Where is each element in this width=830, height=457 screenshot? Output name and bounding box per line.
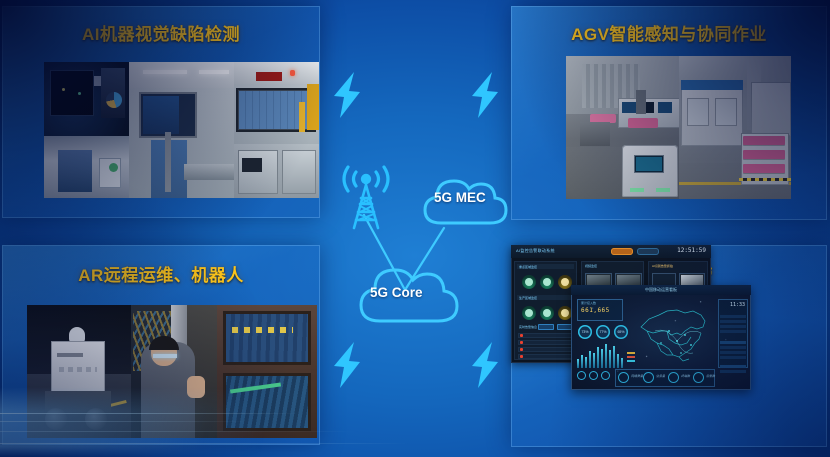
panel-title-ai-vision: AI机器视觉缺陷检测 [2,20,320,45]
panel-ar-robot[interactable]: AR远程运维、机器人 [2,245,320,445]
panel-ai-vision[interactable]: AI机器视觉缺陷检测 [2,6,320,218]
cloud-label-5g-core: 5G Core [370,285,423,300]
capture-section-label: AI识别告警抓拍 [652,264,673,268]
network-diagram: 5G MEC 5G Core [322,0,512,457]
dashboard-gauges-column: 重点区域监控 生产区域监控 实时告警信息 [514,261,577,360]
5g-tower-icon [336,158,396,230]
photo-tile-agv-aisle [679,56,792,199]
ops-footer-metrics: 网络质量 业务量 终端数 告警数 [615,369,715,387]
footer-item-label: 终端数 [681,374,690,378]
photo-agv [566,56,791,199]
ops-clock: 11:33 [730,302,745,308]
work-order-button[interactable] [637,248,659,255]
video-section-label: 视频监控 [585,264,597,268]
lightning-bolt-icon [470,72,500,118]
alarm-table-header: 实时告警信息 [519,325,537,329]
panel-title-ar-robot: AR远程运维、机器人 [2,261,320,286]
lightning-bolt-icon [332,342,362,388]
ring-value-2: 77% [596,325,610,339]
panel-ai-operations[interactable]: AI智慧运营 AI监控告警联动系统 12:51:59 重点区域监控 生 [511,245,827,447]
lightning-bolt-icon [470,342,500,388]
dashboard-operations: 中国移动运营看板 累计接入数 661,665 73% 77% 65% [571,285,751,390]
footer-item-label: 网络质量 [631,374,643,378]
photo-tile-line-monitor [129,62,234,198]
photo-tile-engineer-ar [131,305,217,438]
kpi-label: 累计接入数 [581,301,596,305]
gauge-group-label-2: 生产区域监控 [519,296,537,300]
photo-tile-factory-equipment [234,62,319,198]
kpi-value: 661,665 [581,307,610,314]
dashboard-clock: 12:51:59 [677,247,706,254]
ops-right-panel: 11:33 [718,299,748,368]
ring-value-3: 65% [614,325,628,339]
footer-item-label: 业务量 [656,374,665,378]
alarm-row[interactable] [518,333,573,338]
footer-item-label: 告警数 [706,374,715,378]
table-tab-today[interactable] [538,324,554,330]
ops-title: 中国移动运营看板 [645,287,677,293]
chart-legend [627,352,649,364]
alarm-row[interactable] [518,340,573,345]
lightning-bolt-icon [332,72,362,118]
photo-tile-inspection-console [44,62,129,198]
photo-tile-inspection-robot [27,305,131,438]
alarm-row[interactable] [518,354,573,359]
alarm-row[interactable] [518,347,573,352]
bar-chart [577,342,625,368]
gauge-group-label-1: 重点区域监控 [519,265,537,269]
photo-ar-robot [27,305,317,438]
slide-canvas: AI机器视觉缺陷检测 [0,0,830,457]
photo-tile-agv-front [566,56,679,199]
ring-value-1: 73% [578,325,592,339]
dashboard-title: AI监控告警联动系统 [516,248,555,254]
panel-title-agv: AGV智能感知与协同作业 [511,20,827,45]
panel-agv[interactable]: AGV智能感知与协同作业 [511,6,827,220]
ops-titlebar: 中国移动运营看板 [571,285,751,295]
photo-ai-vision [44,62,319,198]
kpi-card: 累计接入数 661,665 [577,299,623,321]
ops-left-footer [575,371,613,387]
photo-tile-remote-monitors [217,305,317,438]
cloud-label-5g-mec: 5G MEC [434,190,486,205]
alarm-records-button[interactable] [611,248,633,255]
dashboard-titlebar: AI监控告警联动系统 12:51:59 [511,245,711,258]
